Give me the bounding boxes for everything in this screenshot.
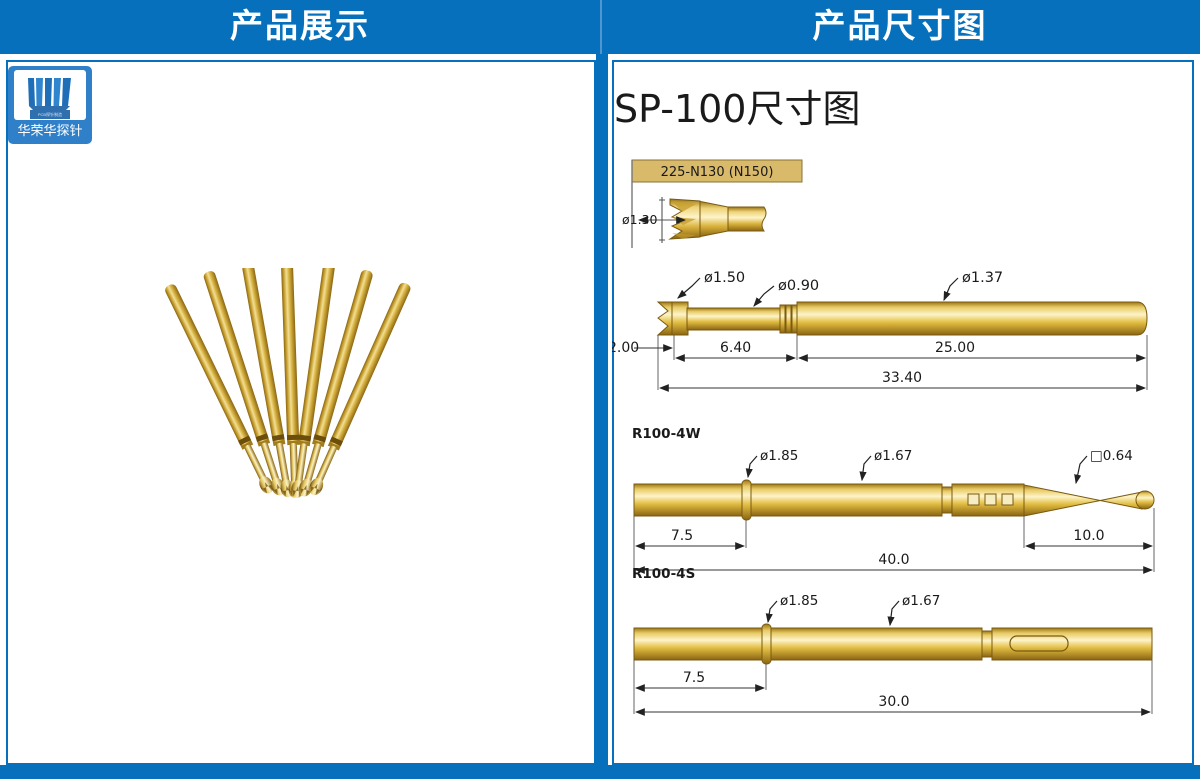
logo-chip-text: PCB探针制造: [30, 110, 70, 119]
header-title-left: 产品展示: [0, 0, 600, 54]
tip-detail-group: 225-N130 (N150): [622, 160, 802, 248]
receptacle-s-group: R100-4S ø1.85 ø1.67 7.5: [632, 566, 1152, 714]
rs-dim-7-5: 7.5: [683, 670, 705, 686]
rw-callout-2: ø1.67: [874, 448, 912, 464]
main-callout-3: ø1.37: [962, 270, 1003, 286]
receptacle-w-group: R100-4W ø1.85 ø1.67 □0.64: [632, 426, 1154, 572]
rw-callout-3: □0.64: [1090, 448, 1133, 464]
main-dim-2-00: 2.00: [612, 340, 639, 356]
dimension-drawings: 225-N130 (N150): [612, 60, 1194, 765]
header-title-right: 产品尺寸图: [600, 0, 1200, 54]
tip-detail-label: 225-N130 (N150): [661, 165, 774, 180]
rw-dim-40-0: 40.0: [878, 552, 909, 568]
main-callout-2: ø0.90: [778, 278, 819, 294]
tip-diameter-label: ø1.30: [622, 212, 658, 227]
rw-dim-7-5: 7.5: [671, 528, 693, 544]
rw-dim-10-0: 10.0: [1073, 528, 1104, 544]
probes-illustration: [140, 268, 440, 500]
rs-callout-2: ø1.67: [902, 593, 940, 609]
logo-brand-text: 华荣华探针: [8, 122, 92, 142]
main-dim-33-40: 33.40: [882, 370, 922, 386]
footer-band: [0, 765, 1200, 779]
main-probe-group: ø1.50 ø0.90 ø1.37: [612, 270, 1147, 390]
logo-plate: PCB探针制造: [14, 70, 86, 120]
panel-divider: [596, 54, 608, 779]
brand-logo: PCB探针制造 华荣华探针: [8, 66, 92, 144]
main-dim-25-00: 25.00: [935, 340, 975, 356]
product-photo: [140, 268, 440, 500]
rs-dim-30-0: 30.0: [878, 694, 909, 710]
main-callout-1: ø1.50: [704, 270, 745, 286]
drawings-svg: 225-N130 (N150): [612, 60, 1194, 765]
header-band: 产品展示 产品尺寸图: [0, 0, 1200, 54]
main-dim-6-40: 6.40: [720, 340, 751, 356]
receptacle-s-name: R100-4S: [632, 566, 695, 582]
rw-callout-1: ø1.85: [760, 448, 798, 464]
product-spec-sheet: 产品展示 产品尺寸图 PCB探针制造 华荣华探针: [0, 0, 1200, 779]
rs-callout-1: ø1.85: [780, 593, 818, 609]
crown-icon: [26, 76, 74, 112]
receptacle-w-name: R100-4W: [632, 426, 701, 442]
